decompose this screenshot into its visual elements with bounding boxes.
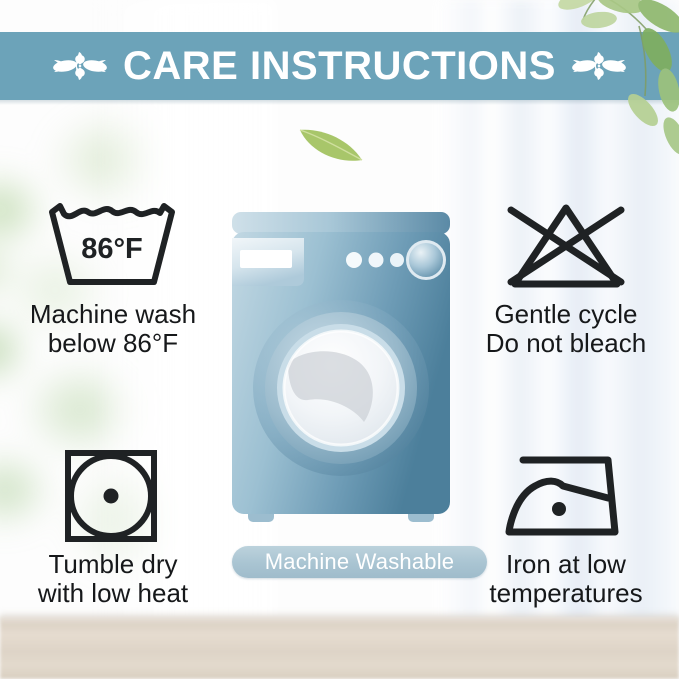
care-label-iron: Iron at low temperatures	[461, 550, 671, 608]
page-title: CARE INSTRUCTIONS	[123, 44, 556, 89]
care-label-machine-wash: Machine wash below 86°F	[8, 300, 218, 358]
care-label-gentle-cycle: Gentle cycle Do not bleach	[461, 300, 671, 358]
care-symbol-iron: Iron at low temperatures	[461, 446, 671, 608]
care-symbol-machine-wash: 86°F Machine wash below 86°F	[8, 196, 218, 358]
care-instructions-infographic: CARE INSTRUCTIONS	[0, 0, 679, 679]
wash-temperature-value: 86°F	[81, 233, 143, 265]
care-symbol-gentle-cycle-no-bleach: Gentle cycle Do not bleach	[461, 196, 671, 358]
badge-label: Machine Washable	[265, 549, 454, 575]
iron-low-temperature-icon	[461, 446, 671, 546]
wash-tub-icon: 86°F	[8, 196, 218, 296]
detergent-drawer	[232, 238, 304, 286]
machine-door	[253, 300, 429, 476]
washing-machine-illustration	[226, 208, 456, 538]
machine-top-lid	[232, 212, 450, 234]
machine-washable-badge: Machine Washable	[232, 546, 487, 578]
machine-control-dots	[346, 252, 404, 268]
falling-leaf-icon	[296, 122, 366, 166]
fleur-de-lis-icon-left	[53, 45, 107, 87]
care-label-tumble-dry: Tumble dry with low heat	[8, 550, 218, 608]
machine-dial-knob	[406, 240, 446, 280]
tumble-dry-low-heat-icon	[8, 446, 218, 546]
triangle-crossed-no-bleach-icon	[461, 196, 671, 296]
care-symbol-tumble-dry: Tumble dry with low heat	[8, 446, 218, 608]
background-wooden-table	[0, 617, 679, 679]
leaf-cluster-icon	[535, 0, 679, 161]
